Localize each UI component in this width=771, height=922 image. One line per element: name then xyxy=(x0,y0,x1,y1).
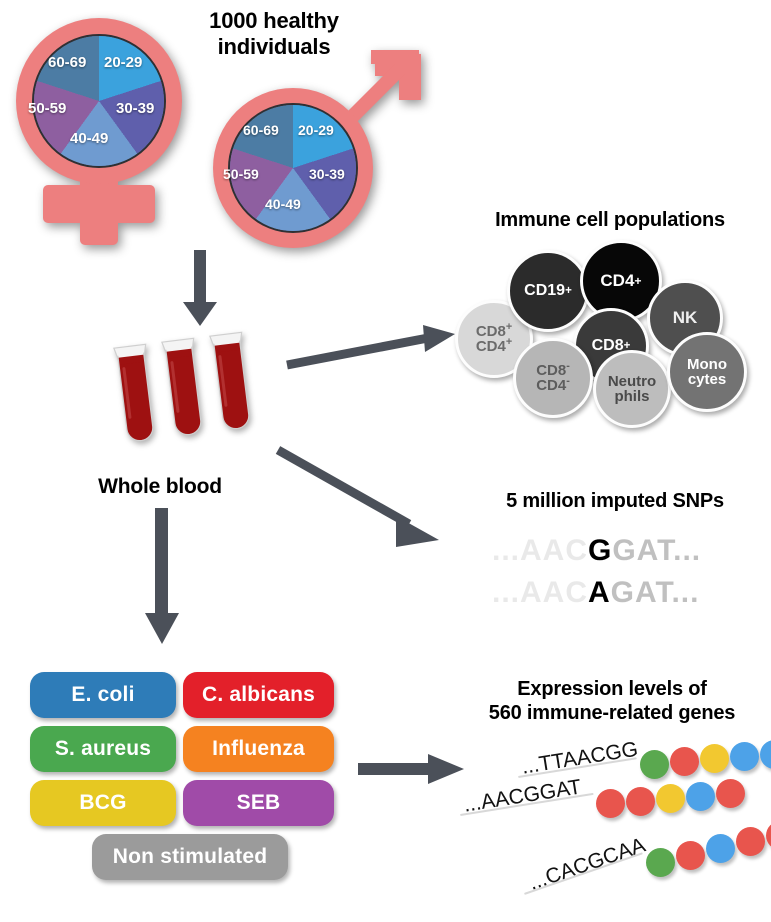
snp-variant-g: G xyxy=(588,534,612,568)
snp-suffix: GAT... xyxy=(611,576,700,610)
snp-variant-a: A xyxy=(588,576,611,610)
dna-bead xyxy=(626,787,655,816)
blood-tubes-group xyxy=(108,330,278,455)
dna-bead xyxy=(760,740,771,769)
dna-bead xyxy=(640,750,669,779)
dna-bead xyxy=(736,827,765,856)
immune-cell-populations-title: Immune cell populations xyxy=(450,209,770,233)
expression-title: Expression levels of 560 immune-related … xyxy=(455,678,769,725)
blood-tube xyxy=(204,330,252,442)
cohort-heading-line1: 1000 healthy xyxy=(178,8,370,34)
female-symbol-stem-horizontal xyxy=(43,185,155,223)
dna-bead xyxy=(766,821,771,850)
arrow-blood-to-snps xyxy=(276,448,451,553)
cell-label-line2: cytes xyxy=(688,372,726,387)
female-symbol: 20-29 30-39 40-49 50-59 60-69 xyxy=(8,10,198,245)
female-pie-label-20-29: 20-29 xyxy=(104,54,142,71)
superscript-plus: + xyxy=(506,336,512,348)
female-pie-label-60-69: 60-69 xyxy=(48,54,86,71)
immune-cell-populations-group: CD8+ CD4+ CD19+ CD4+ CD8+ NK CD8- CD4- xyxy=(455,240,771,430)
dna-bead xyxy=(670,747,699,776)
snp-suffix: GAT... xyxy=(612,534,701,568)
cell-label-text: CD8 xyxy=(476,323,506,340)
male-pie-label-30-39: 30-39 xyxy=(309,166,345,182)
superscript-plus: + xyxy=(506,321,512,333)
expression-title-line1: Expression levels of xyxy=(455,678,769,702)
male-pie-label-20-29: 20-29 xyxy=(298,122,334,138)
dna-bead xyxy=(656,784,685,813)
dna-bead xyxy=(676,841,705,870)
cell-label-line2: CD4+ xyxy=(476,339,512,354)
cell-label-text: CD4 xyxy=(600,272,634,290)
expression-strands-group: ...TTAACGG ...AACGGAT ...CACGCAA xyxy=(440,740,771,915)
blood-tube xyxy=(108,342,156,454)
immune-cell-cd8minus-cd4minus: CD8- CD4- xyxy=(513,338,593,418)
dna-bead xyxy=(596,789,625,818)
expression-title-line2: 560 immune-related genes xyxy=(455,702,769,726)
male-pie-label-40-49: 40-49 xyxy=(265,196,301,212)
female-pie-label-30-39: 30-39 xyxy=(116,100,154,117)
snps-title: 5 million imputed SNPs xyxy=(465,490,765,514)
cell-label-text: CD4 xyxy=(476,338,506,355)
superscript-minus: - xyxy=(566,360,570,372)
snp-prefix: ...AAC xyxy=(492,534,588,568)
dna-sequence-text: ...CACGCAA xyxy=(526,833,649,895)
snp-allele-row-1: ...AACGGAT... xyxy=(492,534,701,568)
male-symbol: 20-29 30-39 40-49 50-59 60-69 xyxy=(205,70,420,255)
arrow-blood-to-immune xyxy=(285,325,460,375)
dna-bead xyxy=(686,782,715,811)
immune-cell-cd19plus: CD19+ xyxy=(507,250,589,332)
cell-label-text: NK xyxy=(673,309,698,327)
cell-label-line2: phils xyxy=(614,389,649,404)
male-pie-label-60-69: 60-69 xyxy=(243,122,279,138)
dna-strand-2: ...AACGGAT xyxy=(460,784,750,832)
immune-cell-neutrophils: Neutro phils xyxy=(593,350,671,428)
whole-blood-label: Whole blood xyxy=(70,475,250,500)
cell-label-text: CD4 xyxy=(536,377,566,394)
immune-cell-monocytes: Mono cytes xyxy=(667,332,747,412)
stimulus-c-albicans[interactable]: C. albicans xyxy=(183,672,334,718)
snp-allele-row-2: ...AACAGAT... xyxy=(492,576,699,610)
female-pie-label-50-59: 50-59 xyxy=(28,100,66,117)
male-pie-label-50-59: 50-59 xyxy=(223,166,259,182)
arrow-down-cohort-to-blood xyxy=(180,250,220,328)
cell-label-line1: CD8- xyxy=(536,363,570,378)
dna-bead xyxy=(730,742,759,771)
blood-tube xyxy=(156,336,204,448)
dna-bead xyxy=(716,779,745,808)
dna-sequence-text: ...TTAACGG xyxy=(520,738,640,780)
cell-label-line1: Neutro xyxy=(608,374,656,389)
dna-strand-3: ...CACGCAA xyxy=(524,845,771,905)
stimulus-bcg[interactable]: BCG xyxy=(30,780,176,826)
stimulus-non-stimulated[interactable]: Non stimulated xyxy=(92,834,288,880)
stimulus-e-coli[interactable]: E. coli xyxy=(30,672,176,718)
cell-label-text: CD8 xyxy=(536,362,566,379)
cell-label-text: CD19 xyxy=(524,283,565,299)
stimulus-influenza[interactable]: Influenza xyxy=(183,726,334,772)
dna-bead xyxy=(646,848,675,877)
stimuli-group: E. coli C. albicans S. aureus Influenza … xyxy=(30,672,350,897)
figure-canvas: 1000 healthy individuals 20-29 30-39 40-… xyxy=(0,0,771,922)
arrow-down-blood-to-stimuli xyxy=(143,508,187,648)
cell-label-line1: Mono xyxy=(687,357,727,372)
snp-prefix: ...AAC xyxy=(492,576,588,610)
dna-bead xyxy=(700,744,729,773)
stimulus-s-aureus[interactable]: S. aureus xyxy=(30,726,176,772)
cell-label-line2: CD4- xyxy=(536,378,570,393)
female-pie-label-40-49: 40-49 xyxy=(70,130,108,147)
stimulus-seb[interactable]: SEB xyxy=(183,780,334,826)
superscript-minus: - xyxy=(566,375,570,387)
dna-bead xyxy=(706,834,735,863)
